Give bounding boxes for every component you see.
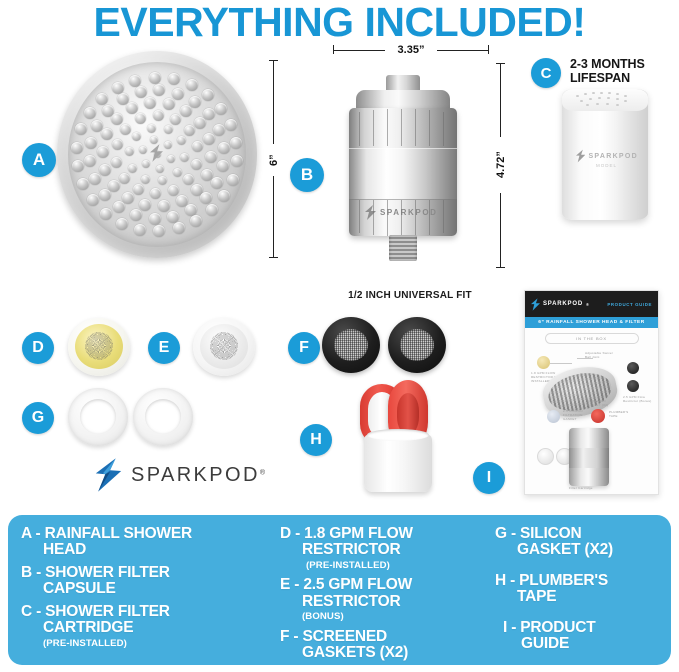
shower-nozzle (218, 142, 230, 154)
guide-title-band: 6” RAINFALL SHOWER HEAD & FILTER (525, 317, 658, 328)
shower-nozzle (147, 124, 156, 133)
shower-nozzle (111, 157, 122, 168)
legend-item-d: D - 1.8 GPM FLOW RESTRICTOR (PRE-INSTALL… (280, 526, 495, 571)
legend-item-d-line2: RESTRICTOR (280, 542, 495, 558)
shower-nozzle (202, 89, 214, 101)
legend-item-e-line1: E - 2.5 GPM FLOW (280, 577, 495, 593)
shower-nozzle (77, 178, 89, 190)
legend-item-i-line2: GUIDE (495, 636, 670, 652)
legend-item-b-line2: CAPSULE (21, 581, 276, 597)
legend-item-e-line2: RESTRICTOR (280, 594, 495, 610)
badge-f-label: F (299, 339, 309, 357)
lightning-bolt-icon (95, 453, 122, 497)
guide-tape-dot (591, 409, 605, 423)
guide-brand-logo: SPARKPOD® (531, 298, 590, 311)
shower-nozzle (134, 224, 146, 236)
guide-filtration-gasket-dot (547, 410, 560, 423)
shower-nozzle (215, 103, 227, 115)
shower-nozzle (119, 173, 130, 184)
guide-header-right: PRODUCT GUIDE (607, 302, 652, 307)
badge-e: E (148, 332, 180, 364)
shower-nozzle (167, 155, 175, 163)
flow-restrictor-2-5-gpm-image (193, 318, 255, 376)
guide-annotation-3: SCREENED GASKET (X2) (587, 400, 615, 408)
shower-nozzle (163, 98, 175, 110)
tape-holder (364, 434, 432, 492)
dimension-capsule-height-label: 4.72” (494, 137, 508, 193)
shower-nozzle (99, 189, 111, 201)
shower-nozzle (129, 75, 141, 87)
badge-i-label: I (487, 469, 491, 487)
screened-gasket-1 (322, 317, 380, 373)
shower-nozzle (158, 200, 170, 212)
shower-nozzle (217, 160, 229, 172)
badge-d: D (22, 332, 54, 364)
shower-nozzle (173, 168, 182, 177)
shower-nozzle (71, 142, 83, 154)
shower-nozzle (91, 120, 103, 132)
shower-nozzle (192, 141, 203, 152)
shower-nozzle (99, 164, 111, 176)
legend-item-i-line1: I - PRODUCT (495, 620, 670, 636)
shower-nozzle (164, 141, 172, 149)
capsule-shoulder (356, 90, 450, 110)
badge-c: C (531, 58, 561, 88)
lifespan-caption: 2-3 MONTHS LIFESPAN (570, 57, 675, 85)
cartridge-brand-logo: SPARKPOD (576, 149, 638, 163)
plumbers-tape-image (348, 378, 448, 494)
guide-brand-text: SPARKPOD (543, 301, 583, 307)
capsule-label-band: SPARKPOD (349, 148, 457, 200)
legend-item-f-line1: F - SCREENED (280, 629, 495, 645)
screened-gasket-2 (388, 317, 446, 373)
cartridge-top (562, 89, 648, 111)
legend-item-c: C - SHOWER FILTER CARTRIDGE (PRE-INSTALL… (21, 604, 276, 649)
shower-nozzle (225, 119, 237, 131)
shower-nozzle (183, 174, 194, 185)
guide-gasket-dot-2 (627, 380, 639, 392)
badge-b: B (290, 158, 324, 192)
shower-nozzle (128, 164, 137, 173)
shower-nozzle (144, 97, 156, 109)
badge-c-label: C (541, 65, 552, 82)
shower-nozzle (168, 185, 179, 196)
legend-item-a: A - RAINFALL SHOWER HEAD (21, 526, 276, 559)
shower-nozzle (231, 155, 243, 167)
capsule-inlet (386, 75, 420, 91)
shower-nozzle (186, 79, 198, 91)
shower-nozzle (170, 114, 181, 125)
legend-item-f: F - SCREENED GASKETS (X2) (280, 629, 495, 662)
shower-nozzle (113, 201, 125, 213)
shower-nozzle (230, 137, 242, 149)
shower-nozzle (200, 192, 212, 204)
lightning-bolt-icon (150, 144, 163, 167)
badge-i: I (473, 462, 505, 494)
shower-nozzle (142, 160, 150, 168)
shower-nozzle (96, 93, 108, 105)
shower-nozzle (85, 137, 97, 149)
shower-nozzle (126, 102, 138, 114)
badge-h: H (300, 424, 332, 456)
legend-item-a-line2: HEAD (21, 542, 276, 558)
shower-nozzle (185, 204, 197, 216)
legend-item-h-line2: TAPE (495, 589, 670, 605)
capsule-body: SPARKPOD (349, 108, 457, 236)
legend-column-3: G - SILICON GASKET (X2) H - PLUMBER'S TA… (495, 526, 670, 659)
shower-nozzle (101, 128, 113, 140)
shower-nozzle (150, 188, 161, 199)
shower-nozzle (87, 194, 99, 206)
badge-a-label: A (33, 150, 45, 170)
shower-nozzle (180, 153, 189, 162)
shower-nozzle (141, 175, 150, 184)
shower-nozzle (211, 177, 223, 189)
dimension-head-height-label: 6” (267, 144, 281, 176)
shower-nozzle (153, 225, 165, 237)
shower-nozzle (164, 125, 173, 134)
shower-nozzle (184, 125, 195, 136)
legend-item-d-line1: D - 1.8 GPM FLOW (280, 526, 495, 542)
lightning-bolt-icon (531, 298, 540, 311)
shower-nozzle (72, 160, 84, 172)
guide-restrictor-dot (537, 356, 550, 369)
shower-nozzle (89, 173, 101, 185)
sparkpod-logo: SPARKPOD® (95, 452, 265, 498)
capsule-thread-outlet (389, 235, 417, 261)
shower-head-face (68, 62, 246, 247)
dimension-capsule-width-label: 3.35” (385, 44, 437, 57)
legend-item-f-line2: GASKETS (X2) (280, 645, 495, 661)
guide-annotation-5: PLUMBER'S TAPE (609, 411, 637, 419)
shower-nozzle (135, 113, 146, 124)
shower-nozzle (168, 73, 180, 85)
guide-annotation-7: Filter Cartridge (569, 487, 599, 491)
shower-nozzle (120, 124, 131, 135)
shower-nozzle (158, 176, 167, 185)
shower-nozzle (132, 132, 141, 141)
legend-item-g-line1: G - SILICON (495, 526, 670, 542)
silicon-gasket-1 (68, 388, 128, 446)
guide-diagram: 1.8 GPM FLOW RESTRICTOR (PRE-INSTALLED) … (525, 344, 658, 494)
dimension-capsule-width: 3.35” (333, 44, 489, 58)
shower-filter-cartridge-image: SPARKPOD MODEL (562, 89, 648, 220)
shower-nozzle (117, 93, 129, 105)
shower-nozzle (189, 96, 201, 108)
rainfall-shower-head-image (57, 51, 257, 258)
shower-nozzle (194, 117, 206, 129)
page-title: EVERYTHING INCLUDED! (0, 2, 679, 43)
guide-header: SPARKPOD® PRODUCT GUIDE (525, 291, 658, 317)
lifespan-line-1: 2-3 MONTHS (570, 57, 675, 71)
badge-d-label: D (32, 339, 44, 357)
sparkpod-registered-mark: ® (260, 469, 265, 476)
shower-nozzle (191, 159, 202, 170)
shower-nozzle (133, 184, 144, 195)
badge-e-label: E (159, 339, 170, 357)
guide-annotation-4: 2.5 MICRON FILTRATION GASKET (563, 410, 589, 422)
shower-filter-capsule-image: SPARKPOD (345, 75, 461, 265)
guide-filter-illustration (569, 428, 609, 486)
shower-nozzle (177, 136, 186, 145)
shower-nozzle (139, 199, 151, 211)
legend-item-i: I - PRODUCT GUIDE (495, 620, 670, 653)
legend-item-b-line1: B - SHOWER FILTER (21, 565, 276, 581)
shower-nozzle (135, 86, 147, 98)
shower-nozzle (108, 180, 120, 192)
shower-nozzle (203, 108, 215, 120)
shower-nozzle (125, 147, 134, 156)
badge-b-label: B (301, 165, 313, 185)
guide-annotation-2: 2.5 GPM Flow Restrictor (Bonus) (623, 396, 653, 404)
guide-in-the-box-label: IN THE BOX (545, 333, 639, 344)
sparkpod-wordmark: SPARKPOD (131, 464, 260, 486)
shower-nozzle (75, 123, 87, 135)
legend-item-d-sub: (PRE-INSTALLED) (280, 560, 495, 572)
legend-panel: A - RAINFALL SHOWER HEAD B - SHOWER FILT… (8, 515, 671, 665)
legend-item-c-sub: (PRE-INSTALLED) (21, 638, 276, 650)
shower-nozzle (218, 190, 230, 202)
shower-nozzle (97, 146, 109, 158)
shower-nozzle (153, 110, 164, 121)
legend-column-2: D - 1.8 GPM FLOW RESTRICTOR (PRE-INSTALL… (280, 526, 495, 668)
legend-item-b: B - SHOWER FILTER CAPSULE (21, 565, 276, 598)
shower-nozzle (130, 209, 142, 221)
silicon-gasket-2 (133, 388, 193, 446)
badge-f: F (288, 332, 320, 364)
shower-nozzle (84, 155, 96, 167)
shower-nozzle (203, 133, 215, 145)
legend-item-h-line1: H - PLUMBER'S (495, 573, 670, 589)
cartridge-model-text: MODEL (596, 163, 617, 168)
guide-brand-reg: ® (586, 302, 590, 307)
capsule-brand-logo: SPARKPOD (365, 203, 445, 221)
shower-nozzle (213, 124, 225, 136)
product-guide-image: SPARKPOD® PRODUCT GUIDE 6” RAINFALL SHOW… (524, 290, 659, 495)
flow-restrictor-1-8-gpm-image (68, 318, 130, 376)
shower-nozzle (173, 222, 185, 234)
legend-item-h: H - PLUMBER'S TAPE (495, 573, 670, 606)
universal-fit-caption: 1/2 INCH UNIVERSAL FIT (330, 290, 490, 301)
shower-nozzle (111, 113, 123, 125)
cartridge-brand-text: SPARKPOD (588, 153, 638, 160)
shower-nozzle (102, 105, 114, 117)
dimension-head-height: 6” (268, 60, 280, 258)
shower-nozzle (190, 215, 202, 227)
shower-nozzle (153, 84, 165, 96)
badge-h-label: H (310, 431, 322, 449)
legend-item-e-sub: (BONUS) (280, 611, 495, 623)
legend-item-a-line1: A - RAINFALL SHOWER (21, 526, 276, 542)
legend-item-c-line2: CARTRIDGE (21, 620, 276, 636)
shower-nozzle (112, 139, 123, 150)
shower-nozzle (167, 211, 179, 223)
guide-annotation-1: Adjustable Swivel Ball Joint (585, 352, 617, 360)
dimension-capsule-height: 4.72” (494, 63, 508, 268)
legend-item-g-line2: GASKET (X2) (495, 542, 670, 558)
lightning-bolt-icon (576, 149, 585, 163)
badge-g-label: G (32, 409, 44, 427)
shower-nozzle (172, 88, 184, 100)
shower-nozzle (227, 174, 239, 186)
shower-nozzle (206, 204, 218, 216)
legend-item-c-line1: C - SHOWER FILTER (21, 604, 276, 620)
shower-nozzle (149, 213, 161, 225)
shower-nozzle (84, 107, 96, 119)
guide-gasket-dot-1 (627, 362, 639, 374)
legend-item-e: E - 2.5 GPM FLOW RESTRICTOR (BONUS) (280, 577, 495, 622)
shower-nozzle (149, 72, 161, 84)
legend-item-g: G - SILICON GASKET (X2) (495, 526, 670, 559)
badge-g: G (22, 402, 54, 434)
shower-nozzle (205, 151, 217, 163)
shower-nozzle (100, 208, 112, 220)
legend-column-1: A - RAINFALL SHOWER HEAD B - SHOWER FILT… (21, 526, 276, 655)
guide-silicon-ring-1 (537, 448, 554, 465)
shower-nozzle (139, 146, 147, 154)
lightning-bolt-icon (365, 205, 376, 220)
shower-nozzle (112, 82, 124, 94)
shower-nozzle (116, 218, 128, 230)
lifespan-line-2: LIFESPAN (570, 71, 675, 85)
badge-a: A (22, 143, 56, 177)
